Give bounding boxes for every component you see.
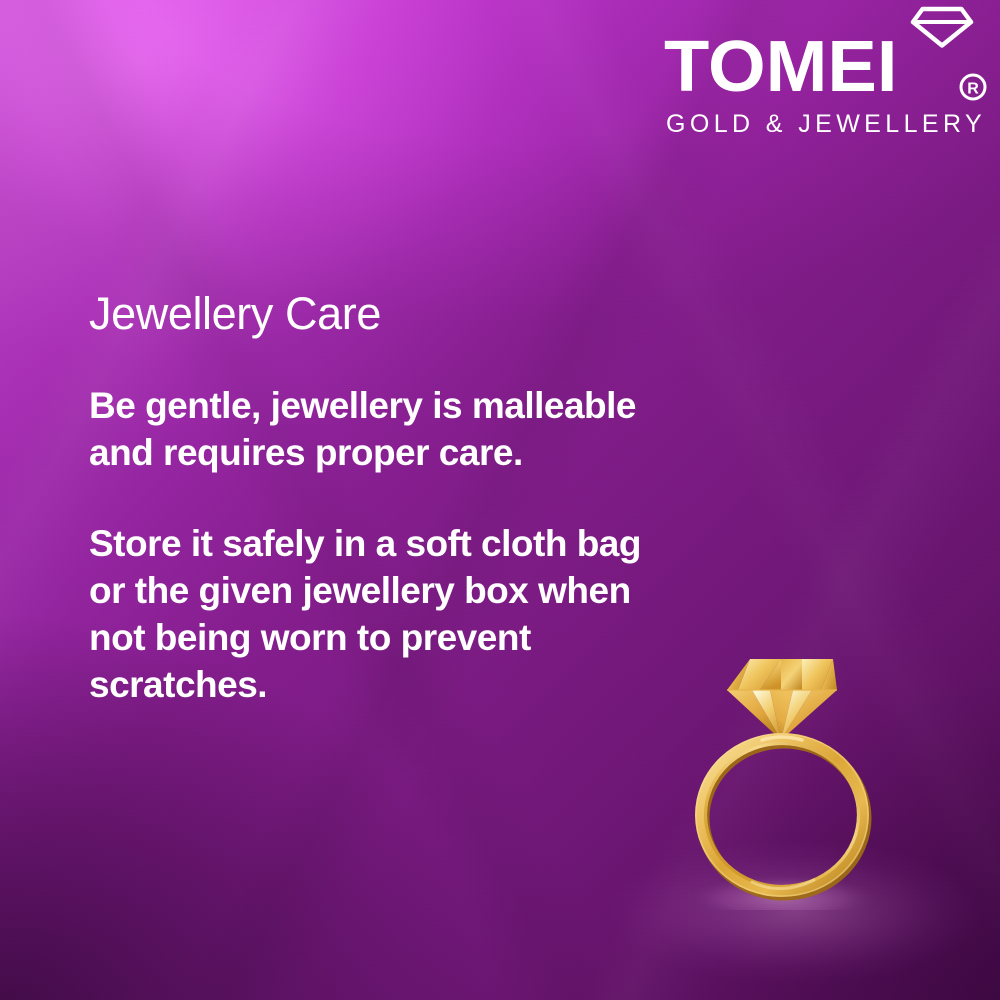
copy-block: Jewellery Care Be gentle, jewellery is m… — [89, 288, 669, 708]
brand-wordmark: TOMEI — [664, 34, 973, 100]
ring-band — [696, 734, 868, 896]
care-paragraph-1: Be gentle, jewellery is malleable and re… — [89, 382, 669, 476]
svg-text:R: R — [967, 81, 979, 98]
brand-tagline: GOLD & JEWELLERY — [666, 110, 986, 138]
diamond-ring-illustration — [690, 640, 890, 910]
gem-crown — [727, 659, 837, 690]
gem-pavilion — [727, 690, 837, 740]
care-paragraph-2: Store it safely in a soft cloth bag or t… — [89, 520, 669, 708]
brand-logo: TOMEI R GOLD & JEWELLERY — [660, 4, 990, 140]
poster-canvas: TOMEI R GOLD & JEWELLERY Jewellery Care … — [0, 0, 1000, 1000]
registered-trademark-icon: R — [958, 72, 988, 102]
page-title: Jewellery Care — [89, 288, 669, 340]
